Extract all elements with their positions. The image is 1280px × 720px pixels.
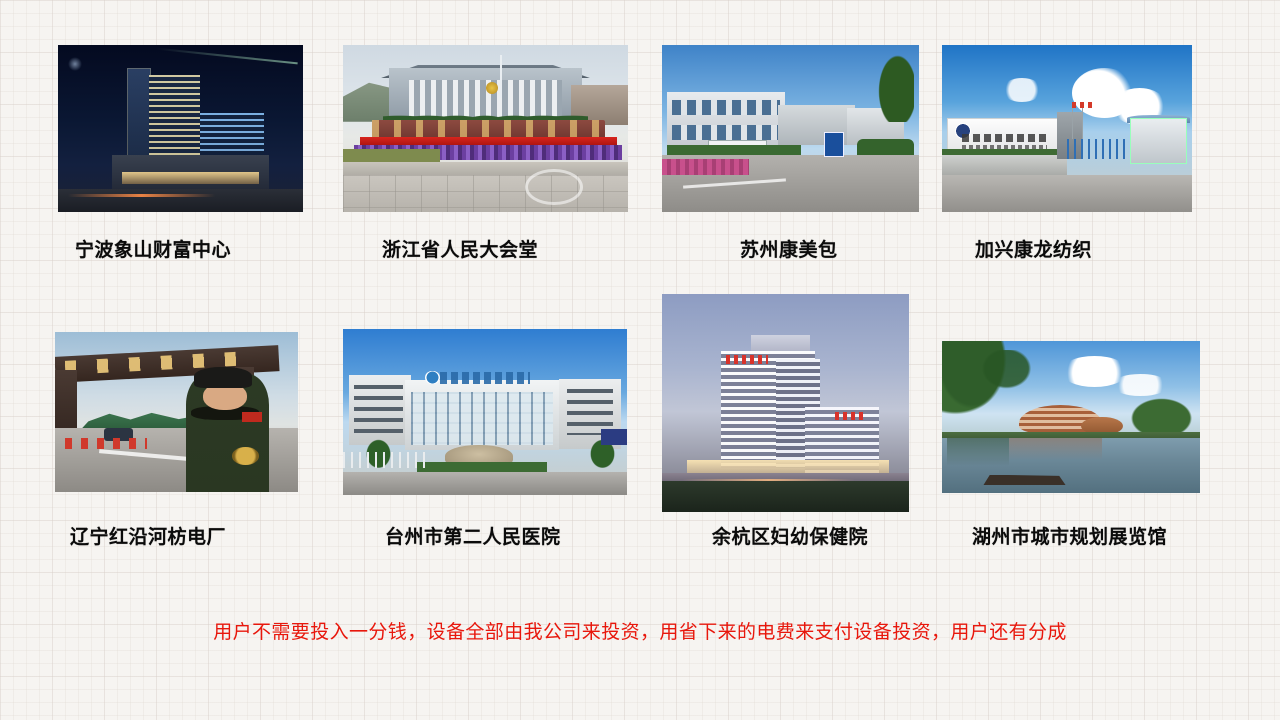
caption-yuhang-maternal-child-health-hospital: 余杭区妇幼保健院 bbox=[712, 527, 868, 549]
caption-ningbo-xiangshan-wealth-center: 宁波象山财富中心 bbox=[75, 240, 231, 262]
glass-curtain-wall bbox=[411, 392, 553, 445]
zhejiang-great-hall-photo bbox=[343, 45, 628, 212]
tree-cluster-right bbox=[1123, 393, 1200, 436]
gatehouse bbox=[1130, 118, 1187, 163]
hospital-name-sign bbox=[440, 372, 531, 384]
light-beam bbox=[156, 48, 298, 65]
caption-suzhou-sig-combibloc: 苏州康美包 bbox=[740, 240, 838, 262]
paved-plaza bbox=[343, 175, 628, 212]
wing-left-windows bbox=[354, 385, 402, 435]
tower-red-sign bbox=[726, 355, 768, 364]
wooden-boat bbox=[983, 475, 1066, 486]
yuhang-maternal-child-health-hospital-photo bbox=[662, 294, 909, 512]
investment-tagline: 用户不需要投入一分钱，设备全部由我公司来投资，用省下来的电费来支付设备投资，用户… bbox=[0, 620, 1280, 646]
guard-hat bbox=[194, 367, 252, 388]
hospital-logo bbox=[425, 371, 439, 384]
pine-tree bbox=[873, 45, 914, 122]
entrance-road bbox=[942, 175, 1192, 212]
traffic-barriers bbox=[65, 438, 148, 449]
willow-branches bbox=[973, 350, 1040, 396]
signboard-chinese-text bbox=[962, 134, 1047, 142]
podium-red-sign bbox=[835, 412, 865, 421]
window-row-upper bbox=[672, 100, 780, 115]
light-trail bbox=[68, 194, 215, 197]
moon-glow bbox=[68, 57, 82, 71]
museum-reflection bbox=[1009, 438, 1102, 459]
huzhou-urban-planning-exhibition-hall-photo bbox=[942, 341, 1200, 493]
taizhou-second-peoples-hospital-photo bbox=[343, 329, 627, 495]
caption-zhejiang-great-hall: 浙江省人民大会堂 bbox=[382, 240, 538, 262]
suzhou-sig-combibloc-photo bbox=[662, 45, 919, 212]
tree-reflection bbox=[947, 438, 1009, 465]
jiaxing-cone-denim-textile-photo bbox=[942, 45, 1192, 212]
ningbo-xiangshan-wealth-center-photo bbox=[58, 45, 303, 212]
blue-signboard bbox=[824, 132, 844, 157]
cloud-small bbox=[1002, 78, 1042, 101]
sign-plinth bbox=[942, 155, 1067, 175]
watermark-circle bbox=[525, 169, 582, 205]
flags bbox=[1072, 102, 1092, 109]
flower-border bbox=[662, 159, 749, 176]
foreground-lawn bbox=[662, 481, 909, 512]
caption-liaoning-hongyanhe-power-plant: 辽宁红沿河枋电厂 bbox=[70, 527, 226, 549]
caption-jiaxing-cone-denim-textile: 加兴康龙纺织 bbox=[975, 240, 1092, 262]
conical-shrubs bbox=[383, 85, 588, 125]
slide-canvas: 宁波象山财富中心 浙江省人民大会堂 苏州康美包 bbox=[0, 0, 1280, 720]
guard-emblem bbox=[232, 447, 259, 465]
blue-signboard bbox=[601, 429, 627, 446]
podium-lights bbox=[122, 172, 259, 184]
guard-shoulder-badge bbox=[242, 412, 261, 422]
perimeter-fence bbox=[343, 452, 428, 469]
front-road bbox=[343, 472, 627, 495]
night-ground bbox=[58, 189, 303, 212]
liaoning-hongyanhe-power-plant-photo bbox=[55, 332, 298, 492]
caption-taizhou-second-peoples-hospital: 台州市第二人民医院 bbox=[385, 527, 561, 549]
window-row-lower bbox=[672, 125, 780, 140]
caption-huzhou-urban-planning-exhibition-hall: 湖州市城市规划展览馆 bbox=[972, 527, 1167, 549]
